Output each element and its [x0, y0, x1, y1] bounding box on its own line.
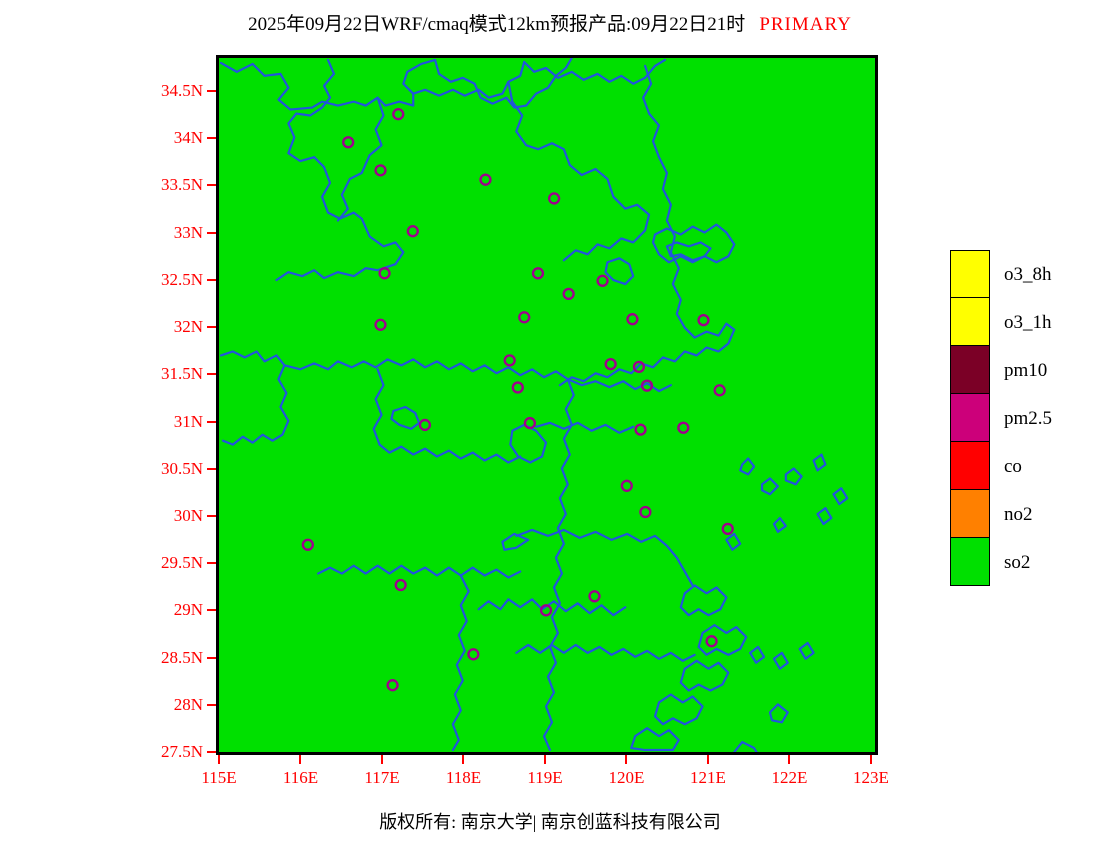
station-marker[interactable]: [396, 580, 406, 590]
station-marker[interactable]: [513, 383, 523, 393]
y-axis-label: 28.5N: [161, 648, 203, 668]
y-axis-label: 28N: [174, 695, 203, 715]
station-marker[interactable]: [380, 268, 390, 278]
y-axis-tick: [207, 657, 216, 659]
pollutant-legend: o3_8ho3_1hpm10pm2.5cono2so2: [950, 250, 1090, 586]
station-marker[interactable]: [640, 507, 650, 517]
station-marker[interactable]: [564, 289, 574, 299]
x-axis-label: 116E: [283, 768, 318, 788]
legend-label: o3_8h: [1004, 265, 1052, 284]
legend-color-swatch: [950, 538, 990, 586]
station-marker[interactable]: [622, 481, 632, 491]
legend-row[interactable]: no2: [950, 490, 1090, 538]
station-marker[interactable]: [303, 540, 313, 550]
station-marker[interactable]: [636, 425, 646, 435]
legend-color-swatch: [950, 490, 990, 538]
legend-color-swatch: [950, 298, 990, 346]
y-axis-tick: [207, 373, 216, 375]
legend-row[interactable]: pm2.5: [950, 394, 1090, 442]
legend-row[interactable]: o3_8h: [950, 250, 1090, 298]
station-marker[interactable]: [715, 385, 725, 395]
y-axis-tick: [207, 515, 216, 517]
station-marker[interactable]: [533, 268, 543, 278]
legend-label: co: [1004, 457, 1022, 476]
x-axis-tick: [381, 755, 383, 764]
station-marker[interactable]: [505, 355, 515, 365]
x-axis-label: 115E: [201, 768, 236, 788]
station-marker[interactable]: [376, 165, 386, 175]
legend-label: so2: [1004, 553, 1030, 572]
province-boundaries: [221, 58, 847, 752]
station-marker[interactable]: [678, 423, 688, 433]
forecast-map-page: 2025年09月22日WRF/cmaq模式12km预报产品:09月22日21时P…: [0, 0, 1100, 850]
x-axis-label: 117E: [364, 768, 399, 788]
legend-label: pm2.5: [1004, 409, 1052, 428]
x-axis-label: 121E: [690, 768, 726, 788]
y-axis-tick: [207, 468, 216, 470]
legend-color-swatch: [950, 394, 990, 442]
x-axis-tick: [625, 755, 627, 764]
legend-color-swatch: [950, 346, 990, 394]
page-title-main: 2025年09月22日WRF/cmaq模式12km预报产品:09月22日21时: [248, 14, 745, 35]
map-plot-area[interactable]: [216, 55, 878, 755]
station-marker[interactable]: [420, 420, 430, 430]
y-axis-label: 33N: [174, 223, 203, 243]
x-axis-label: 123E: [853, 768, 889, 788]
y-axis-tick: [207, 137, 216, 139]
x-axis-tick: [462, 755, 464, 764]
y-axis-label: 27.5N: [161, 742, 203, 762]
station-marker[interactable]: [468, 649, 478, 659]
station-marker[interactable]: [723, 524, 733, 534]
y-axis-tick: [207, 326, 216, 328]
y-axis-label: 33.5N: [161, 175, 203, 195]
y-axis-label: 31N: [174, 412, 203, 432]
station-marker[interactable]: [707, 636, 717, 646]
station-marker[interactable]: [549, 193, 559, 203]
station-marker[interactable]: [408, 226, 418, 236]
y-axis-label: 30N: [174, 506, 203, 526]
station-marker[interactable]: [606, 359, 616, 369]
y-axis-label: 29N: [174, 600, 203, 620]
x-axis-tick: [788, 755, 790, 764]
legend-row[interactable]: co: [950, 442, 1090, 490]
x-axis-label: 118E: [446, 768, 481, 788]
y-axis-label: 32.5N: [161, 270, 203, 290]
y-axis-label: 31.5N: [161, 364, 203, 384]
station-marker[interactable]: [590, 591, 600, 601]
page-title-tag: PRIMARY: [759, 14, 852, 35]
x-axis-tick: [299, 755, 301, 764]
legend-row[interactable]: pm10: [950, 346, 1090, 394]
y-axis-tick: [207, 609, 216, 611]
y-axis-tick: [207, 562, 216, 564]
legend-color-swatch: [950, 442, 990, 490]
x-axis-label: 120E: [609, 768, 645, 788]
y-axis-tick: [207, 704, 216, 706]
station-marker[interactable]: [627, 314, 637, 324]
station-marker[interactable]: [393, 109, 403, 119]
station-marker[interactable]: [376, 320, 386, 330]
station-marker[interactable]: [481, 175, 491, 185]
x-axis-tick: [544, 755, 546, 764]
y-axis-tick: [207, 751, 216, 753]
legend-color-swatch: [950, 250, 990, 298]
y-axis-label: 29.5N: [161, 553, 203, 573]
station-marker[interactable]: [598, 276, 608, 286]
station-marker[interactable]: [343, 137, 353, 147]
station-marker[interactable]: [388, 680, 398, 690]
page-title: 2025年09月22日WRF/cmaq模式12km预报产品:09月22日21时P…: [0, 14, 1100, 36]
x-axis-label: 122E: [771, 768, 807, 788]
y-axis-tick: [207, 279, 216, 281]
legend-row[interactable]: o3_1h: [950, 298, 1090, 346]
legend-row[interactable]: so2: [950, 538, 1090, 586]
y-axis-label: 32N: [174, 317, 203, 337]
x-axis-tick: [707, 755, 709, 764]
map-canvas: [219, 58, 875, 752]
y-axis-tick: [207, 232, 216, 234]
y-axis-tick: [207, 90, 216, 92]
y-axis-tick: [207, 184, 216, 186]
copyright-footer: 版权所有: 南京大学| 南京创蓝科技有限公司: [0, 808, 1100, 834]
legend-label: no2: [1004, 505, 1033, 524]
station-marker[interactable]: [519, 312, 529, 322]
y-axis-label: 34.5N: [161, 81, 203, 101]
x-axis-tick: [870, 755, 872, 764]
y-axis-tick: [207, 421, 216, 423]
y-axis-label: 30.5N: [161, 459, 203, 479]
monitoring-stations: [303, 109, 733, 690]
y-axis-label: 34N: [174, 128, 203, 148]
legend-label: o3_1h: [1004, 313, 1052, 332]
station-marker[interactable]: [699, 315, 709, 325]
x-axis-tick: [218, 755, 220, 764]
x-axis-label: 119E: [527, 768, 562, 788]
legend-label: pm10: [1004, 361, 1047, 380]
